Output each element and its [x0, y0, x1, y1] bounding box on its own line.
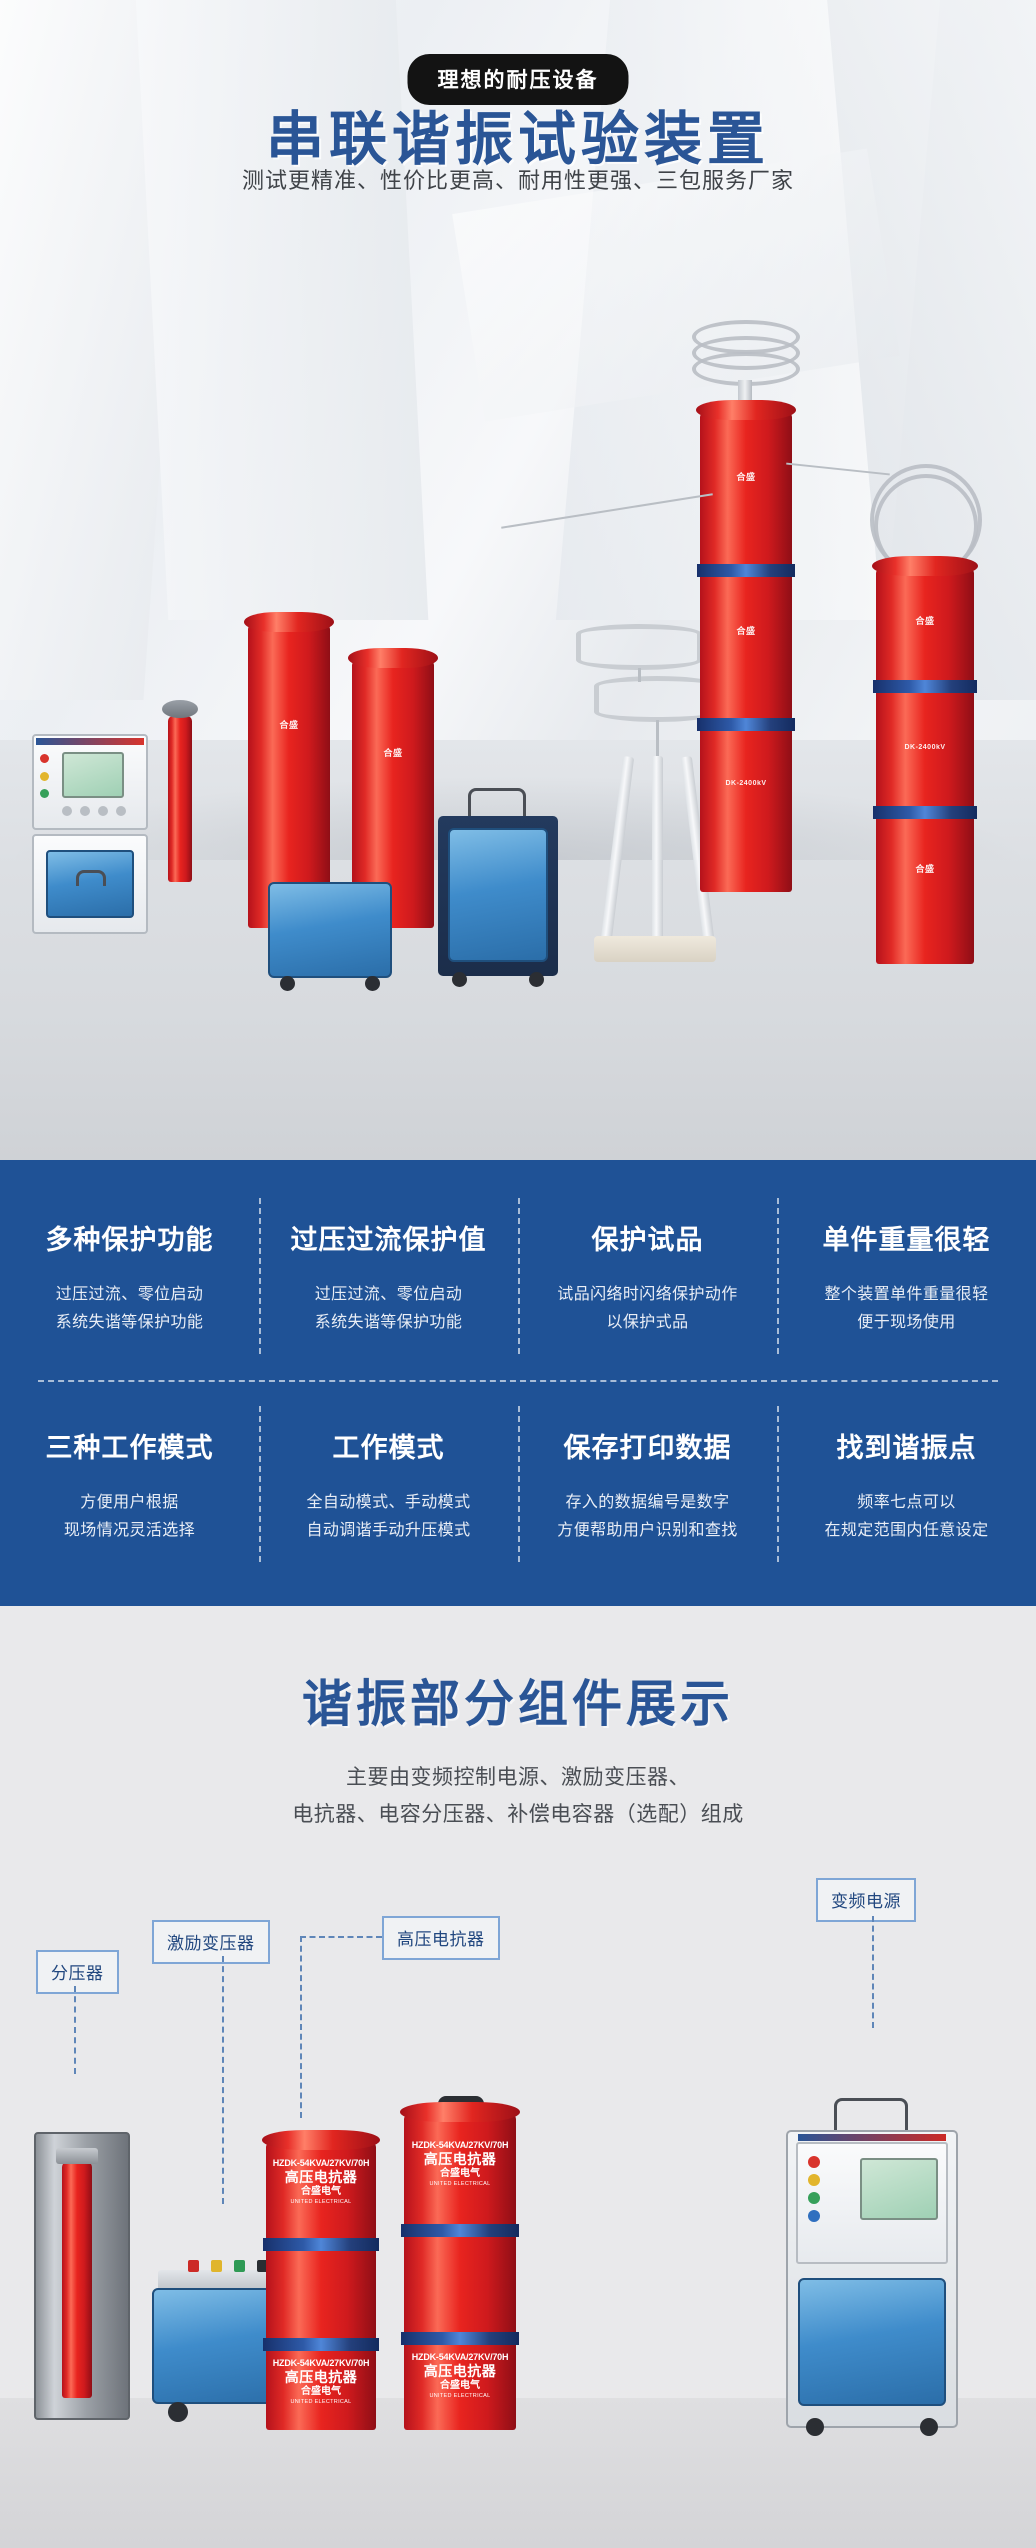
converter-caster [920, 2418, 938, 2436]
feature-title: 保存打印数据 [532, 1426, 763, 1465]
callout-leader-line [222, 1956, 224, 2204]
case-body [268, 882, 392, 978]
features-row-divider [38, 1380, 998, 1382]
divider-red-column [62, 2162, 92, 2398]
overhead-connection-wire [786, 463, 890, 476]
feature-description: 方便用户根据 现场情况灵活选择 [14, 1489, 245, 1544]
feature-desc-line: 过压过流、零位启动 [14, 1281, 245, 1309]
tripod-leg [601, 756, 634, 940]
hero-blue-trolley-case [438, 814, 558, 994]
feature-description: 过压过流、零位启动 系统失谐等保护功能 [14, 1281, 245, 1336]
trolley-wheel [529, 972, 544, 987]
hero-reactor-tower-1: 合盛 [248, 612, 330, 928]
divider-top-terminal [56, 2148, 98, 2164]
cabinet-top-strip [36, 738, 144, 745]
reactor-brand-logo: 合盛 [700, 472, 792, 482]
reactor-brand-en: UNITED ELECTRICAL [404, 2393, 516, 2400]
reactor-brand-en: UNITED ELECTRICAL [404, 2181, 516, 2188]
trolley-blue-panel [448, 828, 548, 962]
cabinet-carry-handle [76, 870, 106, 886]
callout-leader-line [300, 1936, 302, 2118]
case-wheel [365, 976, 380, 991]
reactor-name: 高压电抗器 [266, 2369, 376, 2387]
callout-voltage-divider: 分压器 [36, 1950, 119, 1994]
feature-description: 整个装置单件重量很轻 便于现场使用 [791, 1281, 1022, 1336]
feature-card: 单件重量很轻 整个装置单件重量很轻 便于现场使用 [777, 1214, 1036, 1336]
callout-excitation-transformer: 激励变压器 [152, 1920, 270, 1964]
hero-section: 理想的耐压设备 串联谐振试验装置 测试更精准、性价比更高、耐用性更强、三包服务厂… [0, 0, 1036, 1160]
reactor-blue-band [401, 2332, 519, 2345]
feature-description: 频率七点可以 在规定范围内任意设定 [791, 1489, 1022, 1544]
reactor-brand-logo: 合盛 [876, 864, 974, 874]
feature-title: 工作模式 [273, 1426, 504, 1465]
reactor-brand-en: UNITED ELECTRICAL [266, 2399, 376, 2406]
components-subtitle: 主要由变频控制电源、激励变压器、 电抗器、电容分压器、补偿电容器（选配）组成 [0, 1760, 1036, 1834]
component-high-voltage-reactor-2: HZDK-54KVA/27KV/70H 高压电抗器 合盛电气 UNITED EL… [404, 2110, 516, 2430]
callout-high-voltage-reactor: 高压电抗器 [382, 1916, 500, 1960]
feature-desc-line: 频率七点可以 [791, 1489, 1022, 1517]
reactor-body: HZDK-54KVA/27KV/70H 高压电抗器 合盛电气 UNITED EL… [266, 2142, 376, 2430]
hero-subtitle: 测试更精准、性价比更高、耐用性更强、三包服务厂家 [0, 163, 1036, 195]
reactor-top-cap [400, 2102, 520, 2122]
feature-desc-line: 方便帮助用户识别和查找 [532, 1517, 763, 1545]
feature-desc-line: 整个装置单件重量很轻 [791, 1281, 1022, 1309]
reactor-blue-band [697, 718, 795, 731]
components-subtitle-line: 主要由变频控制电源、激励变压器、 [346, 1766, 690, 1789]
reactor-name: 高压电抗器 [404, 2151, 516, 2169]
connection-wire [638, 668, 641, 682]
reactor-top-cap [348, 648, 438, 668]
reactor-blue-band [873, 806, 977, 819]
component-frequency-converter [786, 2128, 958, 2430]
transformer-terminals [188, 2260, 268, 2272]
features-row-1: 多种保护功能 过压过流、零位启动 系统失谐等保护功能 过压过流保护值 过压过流、… [0, 1214, 1036, 1336]
reactor-top-cap [262, 2130, 380, 2150]
reactor-blue-band [401, 2224, 519, 2237]
feature-desc-line: 现场情况灵活选择 [14, 1517, 245, 1545]
reactor-blue-band [873, 680, 977, 693]
feature-card: 工作模式 全自动模式、手动模式 自动调谐手动升压模式 [259, 1422, 518, 1544]
divider-top-electrode [162, 700, 198, 718]
components-title: 谐振部分组件展示 [0, 1664, 1036, 1736]
feature-card: 多种保护功能 过压过流、零位启动 系统失谐等保护功能 [0, 1214, 259, 1336]
reactor-marking-lower: HZDK-54KVA/27KV/70H 高压电抗器 合盛电气 UNITED EL… [404, 2352, 516, 2400]
feature-title: 单件重量很轻 [791, 1218, 1022, 1257]
reactor-model-text: DK-2400kV [876, 744, 974, 752]
hero-blue-case-center [268, 882, 392, 994]
feature-title: 三种工作模式 [14, 1426, 245, 1465]
reactor-brand: 合盛电气 [266, 2386, 376, 2399]
tripod-base-plate [594, 936, 716, 962]
feature-title: 过压过流保护值 [273, 1218, 504, 1257]
reactor-brand-logo: 合盛 [876, 616, 974, 626]
feature-description: 过压过流、零位启动 系统失谐等保护功能 [273, 1281, 504, 1336]
feature-desc-line: 试品闪络时闪络保护动作 [532, 1281, 763, 1309]
feature-desc-line: 以保护式品 [532, 1309, 763, 1337]
converter-top-accent-strip [798, 2134, 946, 2141]
reactor-blue-band [263, 2338, 379, 2351]
hero-stacked-reactor-right: 合盛 DK-2400kV 合盛 [876, 464, 974, 964]
reactor-model-number: HZDK-54KVA/27KV/70H [266, 2358, 376, 2369]
converter-trolley-handle [834, 2098, 908, 2132]
callout-leader-line [872, 1916, 874, 2028]
features-section: 多种保护功能 过压过流、零位启动 系统失谐等保护功能 过压过流保护值 过压过流、… [0, 1160, 1036, 1606]
reactor-blue-band [697, 564, 795, 577]
reactor-brand-logo: 合盛 [248, 720, 330, 730]
feature-card: 三种工作模式 方便用户根据 现场情况灵活选择 [0, 1422, 259, 1544]
cabinet-display-screen [62, 752, 124, 798]
reactor-model-number: HZDK-54KVA/27KV/70H [404, 2140, 516, 2151]
converter-caster [806, 2418, 824, 2436]
hero-stacked-reactor-tall: 合盛 合盛 DK-2400kV [700, 320, 792, 892]
feature-desc-line: 在规定范围内任意设定 [791, 1517, 1022, 1545]
reactor-brand: 合盛电气 [404, 2380, 516, 2393]
components-stage: 分压器 激励变压器 高压电抗器 变频电源 [0, 1878, 1036, 2548]
converter-indicator-lamps [808, 2156, 824, 2222]
trolley-wheel [452, 972, 467, 987]
feature-title: 找到谐振点 [791, 1426, 1022, 1465]
feature-desc-line: 自动调谐手动升压模式 [273, 1517, 504, 1545]
feature-title: 多种保护功能 [14, 1218, 245, 1257]
reactor-marking-upper: HZDK-54KVA/27KV/70H 高压电抗器 合盛电气 UNITED EL… [404, 2140, 516, 2188]
feature-description: 全自动模式、手动模式 自动调谐手动升压模式 [273, 1489, 504, 1544]
reactor-brand-logo: 合盛 [352, 748, 434, 758]
converter-display-screen [860, 2158, 938, 2220]
connection-wire [656, 720, 659, 760]
reactor-model-number: HZDK-54KVA/27KV/70H [266, 2158, 376, 2169]
reactor-model-text: DK-2400kV [700, 780, 792, 788]
feature-desc-line: 存入的数据编号是数字 [532, 1489, 763, 1517]
trolley-handle [468, 788, 526, 818]
callout-leader-line [300, 1936, 382, 1938]
reactor-body: HZDK-54KVA/27KV/70H 高压电抗器 合盛电气 UNITED EL… [404, 2114, 516, 2430]
reactor-brand-en: UNITED ELECTRICAL [266, 2199, 376, 2206]
reactor-brand: 合盛电气 [266, 2186, 376, 2199]
reactor-top-cap [696, 400, 796, 420]
feature-card: 找到谐振点 频率七点可以 在规定范围内任意设定 [777, 1422, 1036, 1544]
feature-desc-line: 系统失谐等保护功能 [273, 1309, 504, 1337]
components-section: 谐振部分组件展示 主要由变频控制电源、激励变压器、 电抗器、电容分压器、补偿电容… [0, 1606, 1036, 2548]
feature-card: 保存打印数据 存入的数据编号是数字 方便帮助用户识别和查找 [518, 1422, 777, 1544]
reactor-body: 合盛 合盛 DK-2400kV [700, 412, 792, 892]
callout-leader-line [74, 1986, 76, 2074]
product-landing-page: 理想的耐压设备 串联谐振试验装置 测试更精准、性价比更高、耐用性更强、三包服务厂… [0, 0, 1036, 2548]
case-wheel [280, 976, 295, 991]
tripod-leg [652, 756, 663, 940]
reactor-top-cap [872, 556, 978, 576]
feature-desc-line: 全自动模式、手动模式 [273, 1489, 504, 1517]
feature-desc-line: 便于现场使用 [791, 1309, 1022, 1337]
components-subtitle-line: 电抗器、电容分压器、补偿电容器（选配）组成 [292, 1803, 744, 1826]
feature-card: 保护试品 试品闪络时闪络保护动作 以保护式品 [518, 1214, 777, 1336]
reactor-name: 高压电抗器 [266, 2169, 376, 2187]
reactor-blue-band [263, 2238, 379, 2251]
cabinet-control-knobs [62, 806, 126, 818]
overhead-connection-wire [501, 493, 713, 528]
callout-frequency-converter: 变频电源 [816, 1878, 916, 1922]
feature-card: 过压过流保护值 过压过流、零位启动 系统失谐等保护功能 [259, 1214, 518, 1336]
feature-desc-line: 系统失谐等保护功能 [14, 1309, 245, 1337]
feature-title: 保护试品 [532, 1218, 763, 1257]
feature-description: 试品闪络时闪络保护动作 以保护式品 [532, 1281, 763, 1336]
reactor-name: 高压电抗器 [404, 2363, 516, 2381]
hero-control-cabinet [32, 734, 148, 934]
component-high-voltage-reactor-1: HZDK-54KVA/27KV/70H 高压电抗器 合盛电气 UNITED EL… [266, 2132, 376, 2430]
cabinet-indicator-lamps [40, 754, 56, 798]
divider-red-body [168, 716, 192, 882]
hero-small-divider [160, 682, 200, 882]
component-voltage-divider [34, 2132, 130, 2420]
reactor-brand: 合盛电气 [404, 2168, 516, 2181]
feature-desc-line: 过压过流、零位启动 [273, 1281, 504, 1309]
reactor-marking-upper: HZDK-54KVA/27KV/70H 高压电抗器 合盛电气 UNITED EL… [266, 2158, 376, 2206]
reactor-model-number: HZDK-54KVA/27KV/70H [404, 2352, 516, 2363]
reactor-top-cap [244, 612, 334, 632]
reactor-body: 合盛 DK-2400kV 合盛 [876, 568, 974, 964]
reactor-marking-lower: HZDK-54KVA/27KV/70H 高压电抗器 合盛电气 UNITED EL… [266, 2358, 376, 2406]
toroid-ring [576, 624, 702, 670]
transformer-caster [168, 2402, 188, 2422]
reactor-brand-logo: 合盛 [700, 626, 792, 636]
features-row-2: 三种工作模式 方便用户根据 现场情况灵活选择 工作模式 全自动模式、手动模式 自… [0, 1422, 1036, 1544]
feature-description: 存入的数据编号是数字 方便帮助用户识别和查找 [532, 1489, 763, 1544]
converter-blue-panel [798, 2278, 946, 2406]
feature-desc-line: 方便用户根据 [14, 1489, 245, 1517]
